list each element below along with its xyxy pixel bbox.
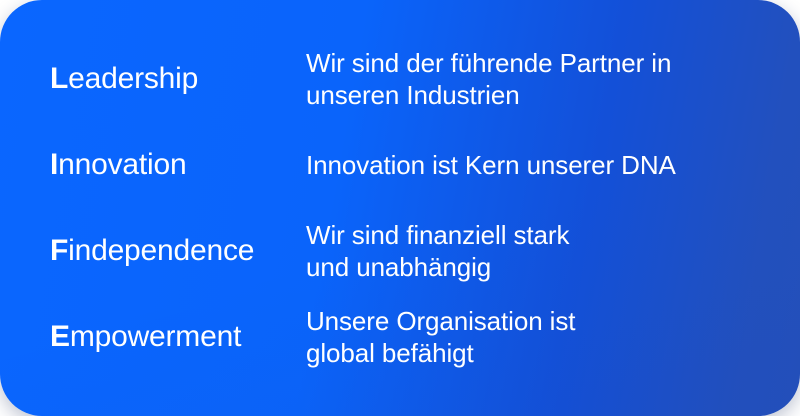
acronym-initial: F — [50, 234, 68, 267]
acronym-rest: mpowerment — [70, 320, 241, 353]
description-line: unseren Industrien — [306, 79, 800, 111]
value-row: Empowerment Unsere Organisation ist glob… — [0, 294, 800, 380]
acronym-initial: I — [50, 148, 58, 181]
description-line: Unsere Organisation ist — [306, 305, 800, 337]
value-description-findependence: Wir sind finanziell stark und unabhängig — [306, 219, 800, 283]
acronym-initial: L — [50, 62, 68, 95]
acronym-rest: eadership — [68, 62, 198, 95]
description-line: Wir sind der führende Partner in — [306, 47, 800, 79]
value-acronym-findependence: Findependence — [50, 235, 306, 267]
value-acronym-empowerment: Empowerment — [50, 321, 306, 353]
description-line: Innovation ist Kern unserer DNA — [306, 149, 800, 181]
value-description-empowerment: Unsere Organisation ist global befähigt — [306, 305, 800, 369]
description-line: und unabhängig — [306, 251, 800, 283]
value-row: Leadership Wir sind der führende Partner… — [0, 36, 800, 122]
description-line: global befähigt — [306, 337, 800, 369]
value-description-leadership: Wir sind der führende Partner in unseren… — [306, 47, 800, 111]
value-description-innovation: Innovation ist Kern unserer DNA — [306, 149, 800, 181]
values-list: Leadership Wir sind der führende Partner… — [0, 0, 800, 416]
value-row: Findependence Wir sind finanziell stark … — [0, 208, 800, 294]
value-row: Innovation Innovation ist Kern unserer D… — [0, 122, 800, 208]
description-line: Wir sind finanziell stark — [306, 219, 800, 251]
acronym-initial: E — [50, 320, 70, 353]
company-values-card: Leadership Wir sind der führende Partner… — [0, 0, 800, 416]
value-acronym-leadership: Leadership — [50, 63, 306, 95]
value-acronym-innovation: Innovation — [50, 149, 306, 181]
acronym-rest: nnovation — [58, 148, 186, 181]
acronym-rest: independence — [68, 234, 254, 267]
